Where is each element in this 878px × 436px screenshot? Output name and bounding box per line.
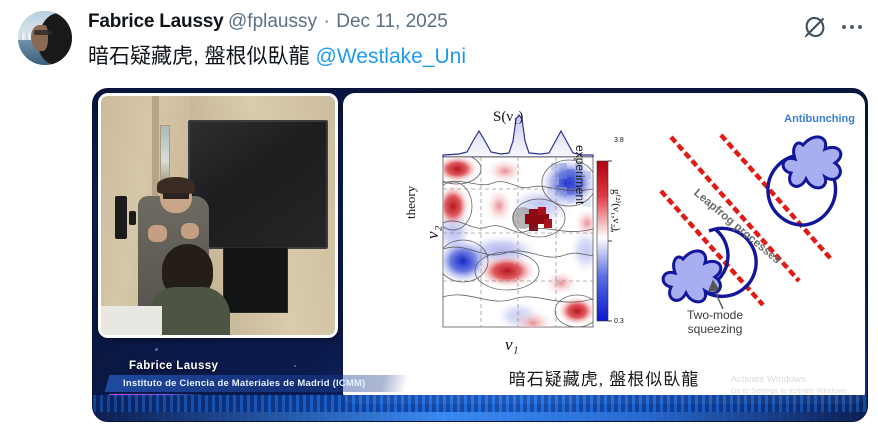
axis-label-theory: theory [403,186,419,219]
tweet-text: 暗石疑藏虎, 盤根似臥龍 @Westlake_Uni [88,44,466,71]
presenter-webcam-inset [98,93,338,338]
spectrum-label: S(ν₁) [493,109,523,126]
axis-label-experiment: experiment [573,145,587,204]
more-options-icon[interactable] [838,14,866,40]
lower-third-banner: Fabrice Laussy Instituto de Ciencia de M… [107,360,407,397]
presenter-glasses [163,193,189,199]
tweet-header: Fabrice Laussy @fplaussy · Dec 11, 2025 … [0,0,878,84]
separator-dot: · [321,11,331,32]
watermark-title: Activate Windows [731,374,849,385]
tweet-card: Fabrice Laussy @fplaussy · Dec 11, 2025 … [0,0,878,436]
more-dot-2 [850,25,854,29]
avatar-face [31,25,48,51]
lower-third-affiliation: Instituto de Ciencia de Materiales de Ma… [123,378,365,389]
colorbar-max-label: 3.8 [614,137,624,144]
correlation-map-svg [401,111,641,376]
more-dot-1 [842,25,846,29]
door-lock [129,211,136,225]
colorbar-min-label: 0.3 [614,318,624,325]
lower-third-affiliation-bar: Instituto de Ciencia de Materiales de Ma… [105,375,410,392]
more-dot-3 [858,25,862,29]
watermark-subtitle: Go to Settings to activate Windows. [731,386,849,395]
windows-activation-watermark: Activate Windows Go to Settings to activ… [731,374,849,395]
door-handle [115,196,127,239]
tweet-body-text: 暗石疑藏虎, 盤根似臥龍 [88,45,310,68]
lower-third-name: Fabrice Laussy [129,360,407,372]
presentation-display [188,120,328,249]
presenter-hand-right [181,223,200,240]
antibunching-blob [783,137,841,188]
avatar[interactable] [18,11,72,65]
slide-bottom-glow-strip [93,412,867,421]
axis-label-nu2: ν₂ [423,226,443,239]
author-display-name[interactable]: Fabrice Laussy [88,11,224,32]
author-handle[interactable]: @fplaussy [228,11,317,32]
author-line: Fabrice Laussy @fplaussy · Dec 11, 2025 [88,12,448,31]
label-antibunching: Antibunching [784,113,855,125]
colorbar [597,161,608,321]
colorbar-title: g⁽²⁾(ν₁,ν₂) [610,189,623,231]
label-two-mode-squeezing: Two-mode squeezing [687,309,743,337]
tweet-date[interactable]: Dec 11, 2025 [336,11,448,32]
leapfrog-schematic: Antibunching Leapfrog processes Two-mode… [643,109,857,359]
twomode-blob [663,251,721,302]
tweet-media-image[interactable]: theory ν₂ ν₁ experiment S(ν₁) [92,88,868,422]
room-table [101,306,162,335]
grok-icon[interactable] [802,14,828,40]
axis-label-nu1: ν₁ [505,335,518,355]
presenter-hand-left [148,225,167,242]
avatar-glasses [34,30,52,35]
display-stand [223,247,289,314]
presenter-hair [157,177,194,194]
correlation-map-figure: theory ν₂ ν₁ experiment S(ν₁) [401,111,641,376]
slide-panel: theory ν₂ ν₁ experiment S(ν₁) [343,93,865,404]
tweet-mention-link[interactable]: @Westlake_Uni [316,45,467,68]
